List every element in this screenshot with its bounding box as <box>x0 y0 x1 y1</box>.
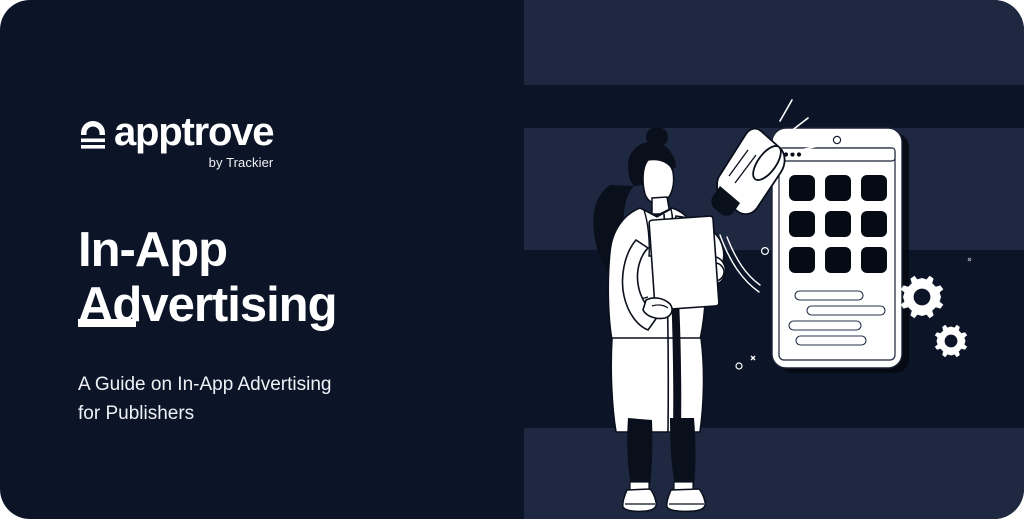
app-grid-3x3 <box>789 175 887 273</box>
logo-wordmark: apptrove <box>114 112 273 152</box>
left-content-column: apptrove by Trackier In-App Advertising … <box>0 0 524 519</box>
brand-logo: apptrove by Trackier <box>78 112 273 170</box>
smartphone-mockup <box>772 128 909 373</box>
logo-tagline: by Trackier <box>209 155 274 170</box>
apptrove-arch-icon <box>78 115 108 149</box>
logo-row: apptrove <box>78 112 273 152</box>
sound-wave-lines <box>720 235 760 292</box>
page-title: In-App Advertising <box>78 223 498 333</box>
title-divider <box>78 319 136 327</box>
woman-figure <box>593 127 725 511</box>
page-subtitle: A Guide on In-App Advertising for Publis… <box>78 371 478 429</box>
cover-slide: apptrove by Trackier In-App Advertising … <box>0 0 1024 519</box>
hero-illustration <box>524 0 1024 519</box>
gear-small-icon <box>935 325 967 357</box>
